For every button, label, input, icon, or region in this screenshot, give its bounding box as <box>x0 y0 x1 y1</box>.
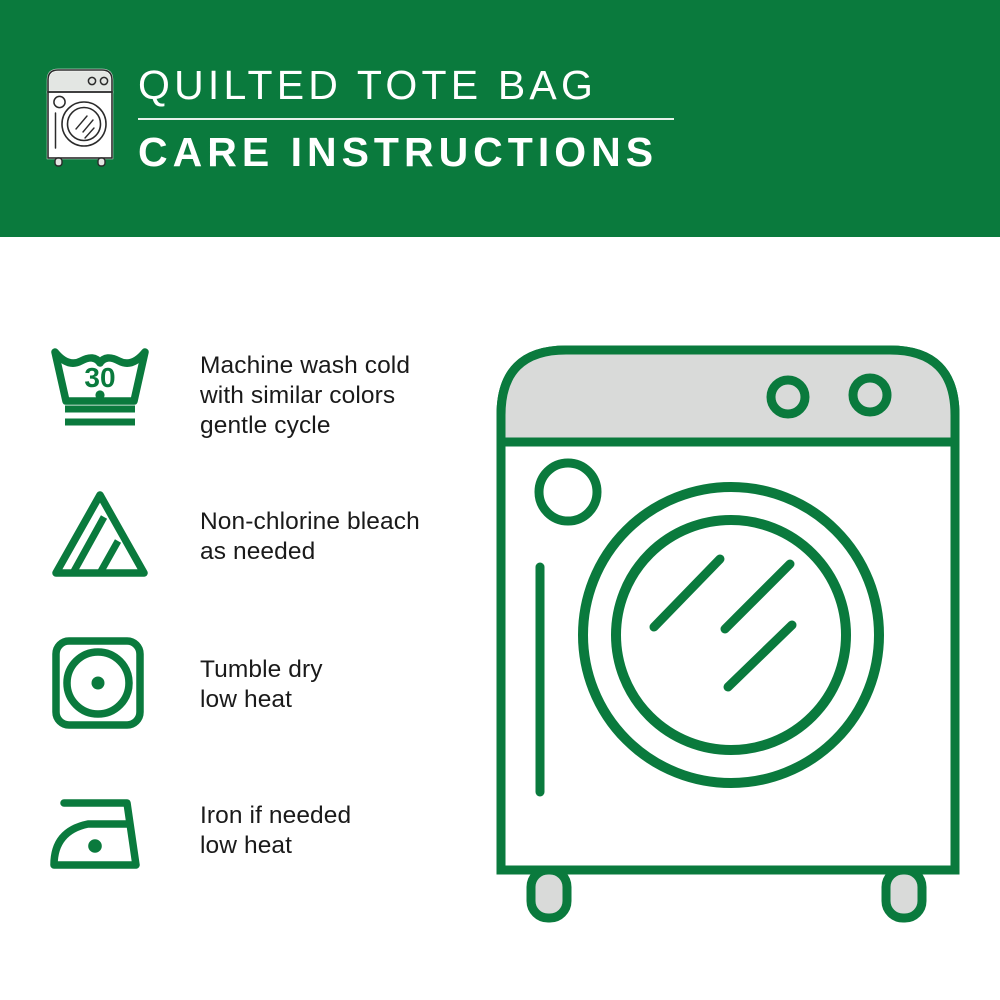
care-row-bleach: Non-chlorine bleach as needed <box>48 485 468 633</box>
header-titles: QUILTED TOTE BAG CARE INSTRUCTIONS <box>138 62 674 175</box>
care-row-iron: Iron if needed low heat <box>48 781 468 929</box>
tumble-dry-low-icon <box>48 633 160 737</box>
header-banner: QUILTED TOTE BAG CARE INSTRUCTIONS <box>0 0 1000 237</box>
care-text-machine-wash: Machine wash cold with similar colors ge… <box>200 351 410 441</box>
machine-leg-right <box>886 870 922 918</box>
header-content: QUILTED TOTE BAG CARE INSTRUCTIONS <box>44 62 674 175</box>
care-row-machine-wash: 30 Machine wash cold with similar colors… <box>48 337 468 485</box>
washing-machine-logo-icon <box>44 66 116 170</box>
care-text-tumble-dry: Tumble dry low heat <box>200 655 323 715</box>
care-instruction-list: 30 Machine wash cold with similar colors… <box>48 337 468 929</box>
wash-tub-30-icon: 30 <box>48 337 160 441</box>
iron-low-heat-icon <box>48 781 160 885</box>
page-subtitle: CARE INSTRUCTIONS <box>138 129 674 175</box>
page-title: QUILTED TOTE BAG <box>138 62 674 108</box>
care-row-tumble-dry: Tumble dry low heat <box>48 633 468 781</box>
care-text-bleach: Non-chlorine bleach as needed <box>200 507 420 567</box>
content-area: 30 Machine wash cold with similar colors… <box>0 237 1000 1000</box>
machine-leg-left <box>531 870 567 918</box>
bleach-triangle-icon <box>48 485 160 589</box>
front-load-washing-machine-illustration <box>488 337 968 927</box>
title-divider <box>138 118 674 120</box>
wash-temperature-label: 30 <box>84 362 115 393</box>
care-text-iron: Iron if needed low heat <box>200 801 351 861</box>
